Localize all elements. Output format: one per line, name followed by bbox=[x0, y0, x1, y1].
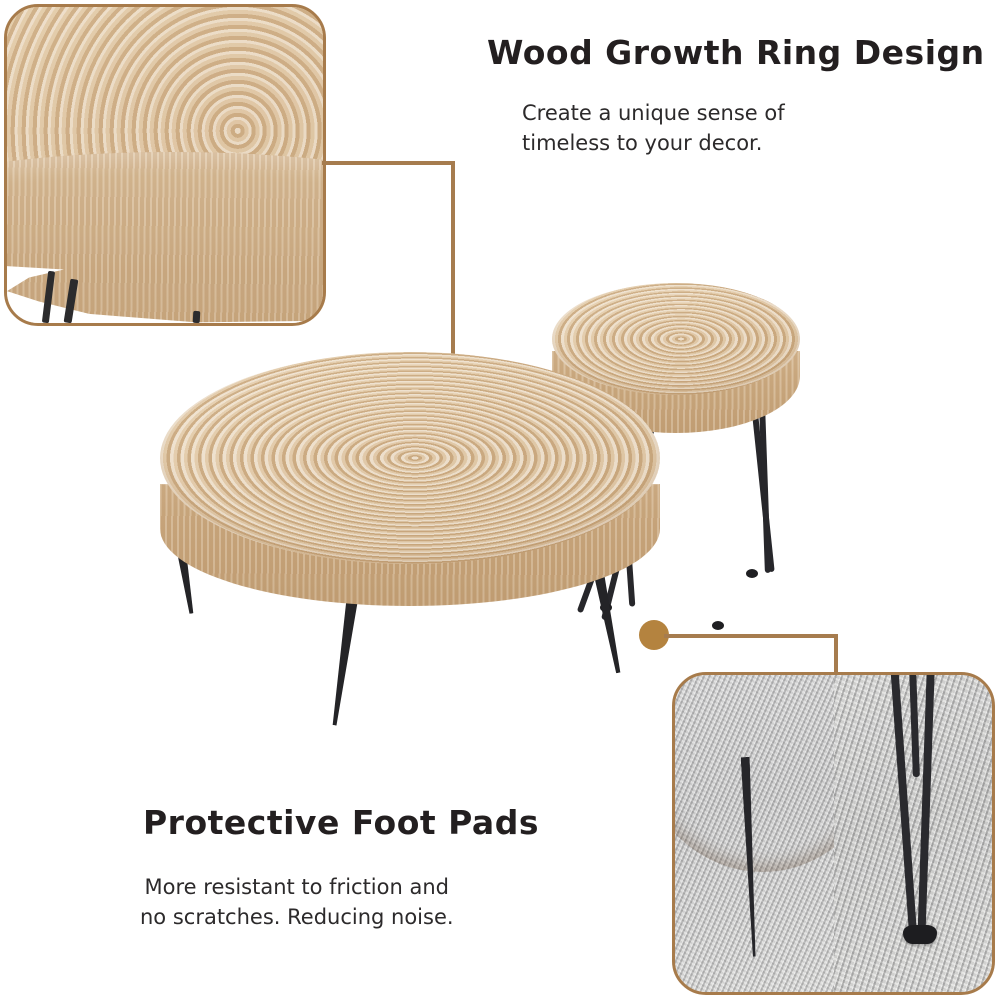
inset-photo-right-hairpin-foot-pads bbox=[834, 675, 993, 992]
callout-subtext-line-2: timeless to your decor. bbox=[522, 128, 785, 158]
table-leg-icon bbox=[193, 311, 201, 323]
callout-connector-horizontal bbox=[322, 161, 455, 165]
callout-subtext-line-1: More resistant to friction and bbox=[140, 872, 454, 902]
callout-connector-vertical bbox=[451, 161, 455, 379]
large-table-growth-ring-top bbox=[160, 352, 660, 564]
foot-pad-icon bbox=[712, 621, 724, 630]
callout-subtext-protective-foot-pads: More resistant to friction and no scratc… bbox=[140, 872, 454, 932]
foot-pad-icon bbox=[746, 569, 758, 578]
callout-subtext-wood-growth-ring: Create a unique sense of timeless to you… bbox=[522, 98, 785, 158]
inset-photo-left-leg-on-carpet bbox=[675, 675, 834, 992]
callout-subtext-line-2: no scratches. Reducing noise. bbox=[140, 902, 454, 932]
inset-wood-growth-ring-closeup bbox=[4, 4, 326, 326]
callout-connector-horizontal bbox=[664, 634, 838, 638]
inset-foot-pad-closeup bbox=[672, 672, 995, 995]
table-edge-band bbox=[4, 152, 326, 326]
tapered-leg-icon bbox=[329, 590, 360, 726]
product-large-coffee-table bbox=[160, 352, 672, 732]
callout-headline-protective-foot-pads: Protective Foot Pads bbox=[143, 803, 539, 842]
inset-top-artwork bbox=[7, 7, 323, 323]
callout-headline-wood-growth-ring: Wood Growth Ring Design bbox=[487, 33, 985, 72]
callout-subtext-line-1: Create a unique sense of bbox=[522, 98, 785, 128]
callout-connector-vertical bbox=[834, 634, 838, 676]
foot-pad-icon bbox=[903, 925, 937, 944]
infographic-canvas: Wood Growth Ring Design Create a unique … bbox=[0, 0, 1000, 1000]
